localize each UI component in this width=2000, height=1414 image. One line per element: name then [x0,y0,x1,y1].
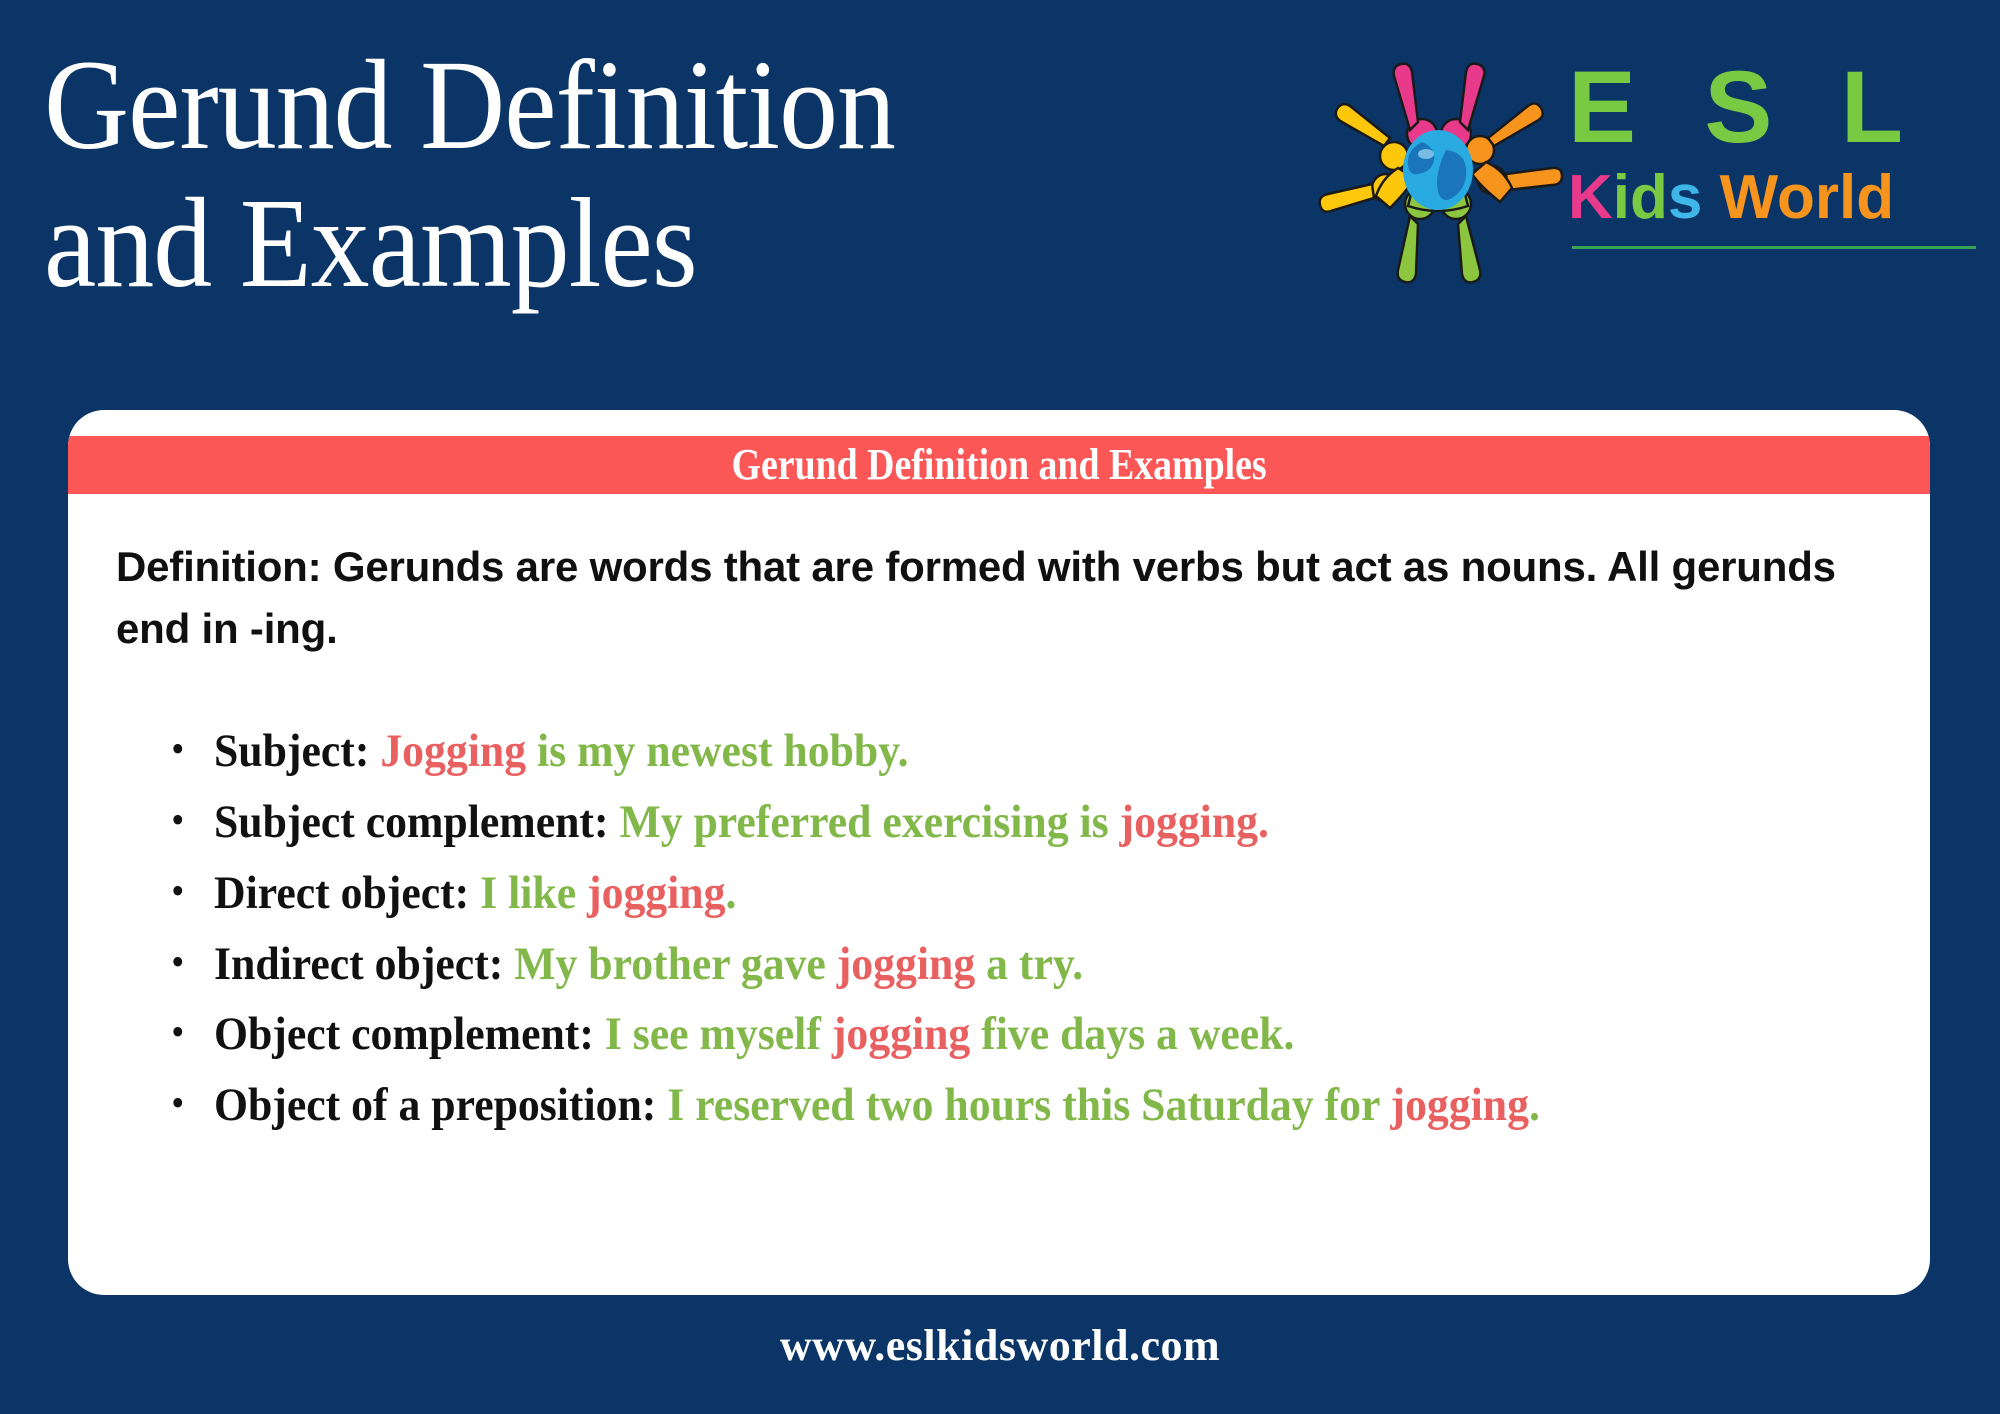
example-label: Subject: [214,725,369,777]
logo-space [1702,163,1719,232]
card-banner: Gerund Definition and Examples [68,436,1930,494]
example-label: Subject complement: [214,796,609,848]
example-phrase: My brother gave [514,938,837,990]
example-phrase: jogging [837,938,975,990]
example-phrase: jogging [1391,1079,1529,1131]
example-label: Direct object: [214,867,469,919]
logo-letter-s: s [1668,163,1702,232]
definition-text: Definition: Gerunds are words that are f… [116,536,1870,660]
website-url: www.eslkidsworld.com [780,1321,1220,1370]
example-phrase: I reserved two hours this Saturday for [667,1079,1390,1131]
example-phrase: My preferred exercising is [619,796,1119,848]
examples-list: Subject: Jogging is my newest hobby.Subj… [68,718,1930,1138]
logo-kidsworld-text: Kids World [1568,165,1978,230]
example-item: Direct object: I like jogging. [214,860,1862,927]
example-phrase: jogging [832,1008,970,1060]
logo-letter-i: i [1613,163,1630,232]
example-phrase: I see myself [605,1008,832,1060]
content-card: Gerund Definition and Examples Definitio… [68,410,1930,1295]
example-phrase: is my newest hobby. [526,725,909,777]
example-label: Object complement: [214,1008,594,1060]
example-phrase: . [1529,1079,1540,1131]
example-phrase: Jogging [380,725,526,777]
logo-letter-k: K [1568,163,1613,232]
example-item: Object of a preposition: I reserved two … [214,1072,1862,1139]
brand-logo[interactable]: E S L Kids World [1300,28,1980,298]
logo-wordmark: E S L Kids World [1568,54,1978,230]
example-item: Indirect object: My brother gave jogging… [214,931,1862,998]
logo-esl-text: E S L [1568,54,1978,161]
example-phrase: . [725,867,736,919]
logo-underline [1572,246,1976,249]
footer: www.eslkidsworld.com [0,1320,2000,1371]
example-label: Indirect object: [214,938,503,990]
example-phrase: a try. [975,938,1083,990]
card-banner-title: Gerund Definition and Examples [731,443,1266,487]
logo-word-world: World [1720,163,1895,232]
example-item: Subject: Jogging is my newest hobby. [214,718,1862,785]
example-phrase: five days a week. [970,1008,1294,1060]
card-body: Definition: Gerunds are words that are f… [68,494,1930,1143]
page-title: Gerund Definition and Examples [44,36,1148,312]
example-phrase: I like [480,867,587,919]
example-label: Object of a preposition: [214,1079,656,1131]
example-item: Subject complement: My preferred exercis… [214,789,1862,856]
example-phrase: jogging [587,867,725,919]
poster-header: Gerund Definition and Examples [0,0,2000,400]
example-item: Object complement: I see myself jogging … [214,1001,1862,1068]
example-phrase: jogging. [1120,796,1269,848]
children-around-globe-icon [1314,38,1564,288]
logo-letter-d: d [1630,163,1668,232]
